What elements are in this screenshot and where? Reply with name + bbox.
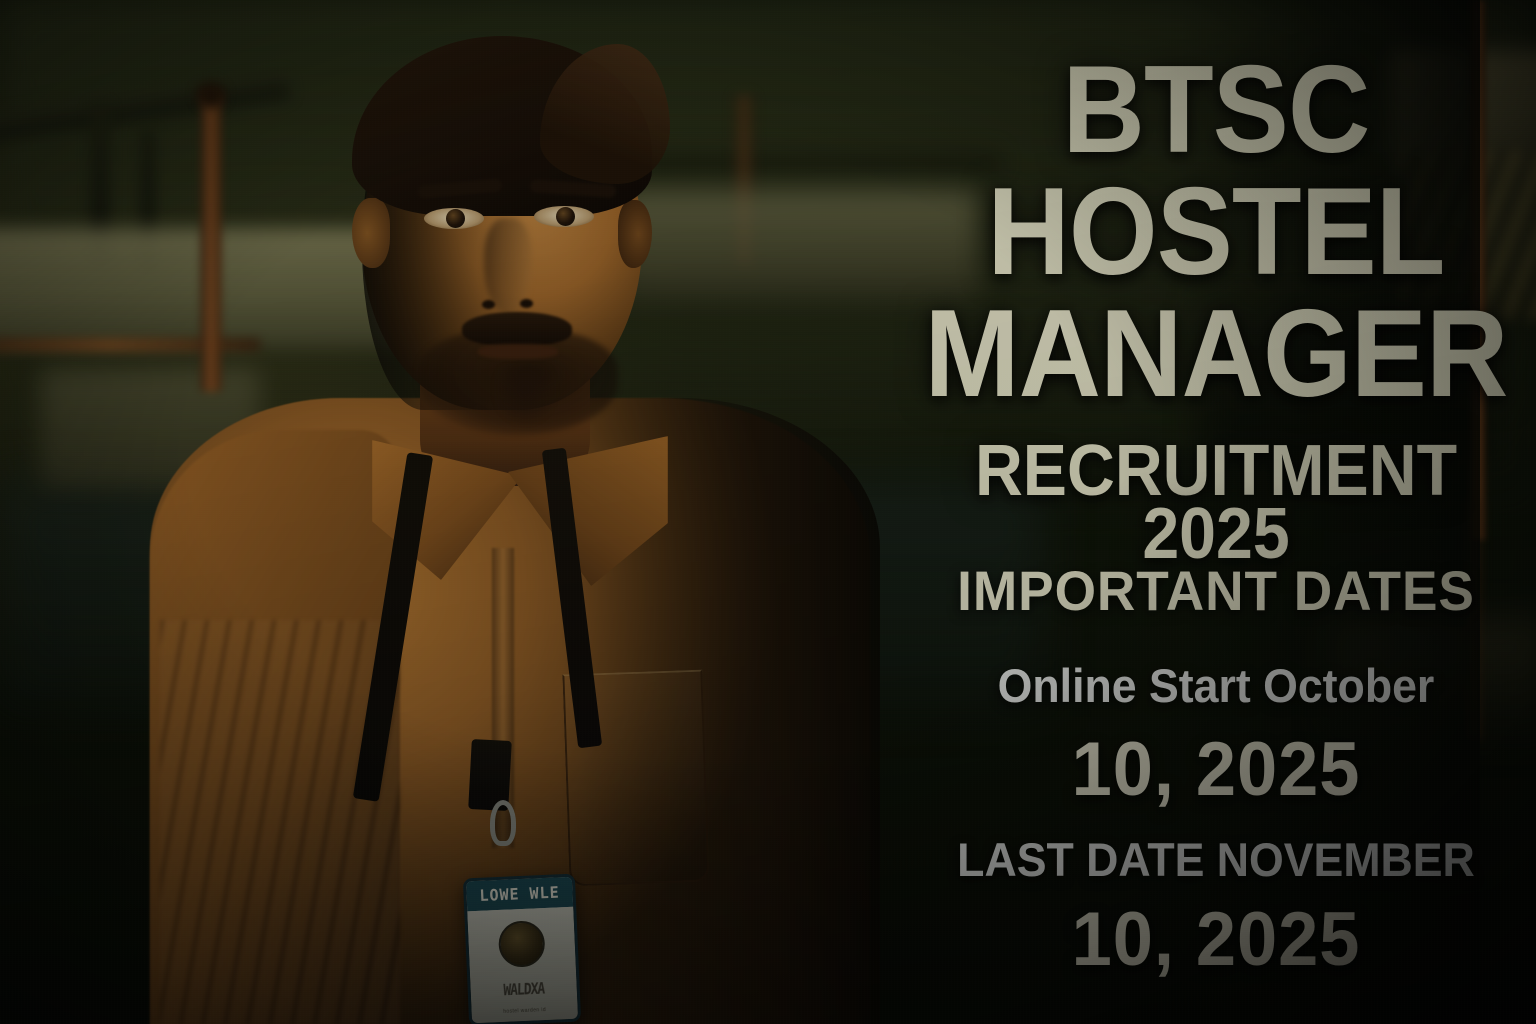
left-pupil bbox=[446, 209, 465, 228]
moustache bbox=[462, 312, 572, 346]
last-date-value: 10, 2025 bbox=[912, 896, 1520, 983]
id-badge: LOWE WLE WALDXA hostel warden id bbox=[463, 874, 581, 1024]
right-pupil bbox=[556, 207, 575, 226]
headline-line-manager: MANAGER bbox=[922, 300, 1511, 409]
id-badge-header: LOWE WLE bbox=[466, 877, 573, 912]
hostel-manager-portrait: LOWE WLE WALDXA hostel warden id bbox=[0, 0, 1000, 1024]
id-badge-micro-text: hostel warden id bbox=[472, 1006, 578, 1017]
online-start-date: 10, 2025 bbox=[912, 726, 1520, 813]
headline-line-btsc: BTSC bbox=[922, 56, 1511, 165]
online-start-label: Online Start October bbox=[912, 658, 1520, 713]
poster-text-panel: BTSC HOSTEL MANAGER RECRUITMENT 2025 IMP… bbox=[896, 0, 1536, 1024]
id-badge-photo bbox=[498, 920, 546, 968]
id-badge-header-text: LOWE WLE bbox=[479, 883, 560, 905]
important-dates-heading: IMPORTANT DATES bbox=[912, 558, 1520, 623]
chin-beard-patch bbox=[494, 366, 556, 424]
right-ear bbox=[618, 200, 652, 268]
lanyard-clip bbox=[490, 800, 516, 846]
sleeve-fabric-folds bbox=[160, 620, 400, 1024]
last-date-label: LAST DATE NOVEMBER bbox=[912, 832, 1520, 887]
recruitment-poster: LOWE WLE WALDXA hostel warden id BTSC HO… bbox=[0, 0, 1536, 1024]
left-ear bbox=[352, 198, 390, 268]
headline-line-hostel: HOSTEL bbox=[922, 178, 1511, 287]
lips bbox=[478, 344, 558, 359]
id-badge-body: WALDXA hostel warden id bbox=[467, 907, 578, 1024]
left-nostril bbox=[482, 300, 495, 309]
id-badge-name-text: WALDXA bbox=[471, 979, 577, 1002]
right-nostril bbox=[520, 299, 533, 308]
headline-line-recruitment-year: RECRUITMENT 2025 bbox=[922, 440, 1511, 567]
